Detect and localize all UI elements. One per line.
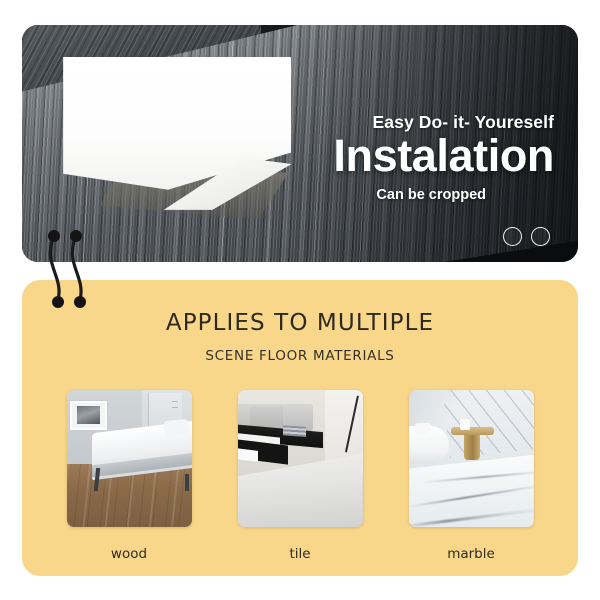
pin-curve-right: [72, 236, 81, 300]
pin-head-right-bottom: [74, 296, 86, 308]
pin-head-left-top: [48, 230, 60, 242]
carousel-dots[interactable]: [503, 227, 550, 246]
marble-thumb-gold-table-top: [451, 427, 494, 435]
material-card-marble[interactable]: marble: [409, 390, 534, 562]
hero-subtitle: Can be cropped: [333, 187, 486, 203]
pin-head-left-bottom: [52, 296, 64, 308]
wardrobe-line-2: [172, 407, 179, 409]
wood-thumb-wall-picture: [70, 401, 107, 430]
material-label-wood: wood: [67, 546, 192, 562]
wardrobe-line-1: [172, 401, 179, 403]
wood-thumb-pillow: [163, 419, 190, 438]
marble-thumb-wall-veins: [443, 390, 534, 458]
material-label-marble: marble: [409, 546, 534, 562]
pin-head-right-top: [70, 230, 82, 242]
panel-subtitle: SCENE FLOOR MATERIALS: [22, 348, 578, 364]
product-infographic: Easy Do- it- Youreself Instalation Can b…: [0, 0, 600, 600]
material-label-tile: tile: [238, 546, 363, 562]
pin-curve-left: [50, 236, 59, 300]
material-card-tile[interactable]: tile: [238, 390, 363, 562]
material-card-list: wood tile: [22, 390, 578, 562]
marble-thumb-mug: [460, 419, 470, 430]
bedroom-wood-floor-photo[interactable]: [67, 390, 192, 527]
tile-thumb-books: [283, 425, 306, 436]
bathroom-marble-floor-photo[interactable]: [409, 390, 534, 527]
living-room-tile-floor-photo[interactable]: [238, 390, 363, 527]
carousel-dot-2-icon[interactable]: [531, 227, 550, 246]
hero-text-block: Easy Do- it- Youreself Instalation Can b…: [333, 113, 554, 203]
marble-thumb-gold-table-leg: [464, 434, 480, 460]
curved-pin-connectors: [38, 224, 108, 314]
marble-thumb-basin: [415, 423, 431, 434]
material-card-wood[interactable]: wood: [67, 390, 192, 562]
wood-thumb-bed-leg-2: [185, 474, 189, 492]
hero-title: Instalation: [333, 133, 554, 180]
carousel-dot-1-icon[interactable]: [503, 227, 522, 246]
materials-panel: APPLIES TO MULTIPLE SCENE FLOOR MATERIAL…: [22, 280, 578, 576]
